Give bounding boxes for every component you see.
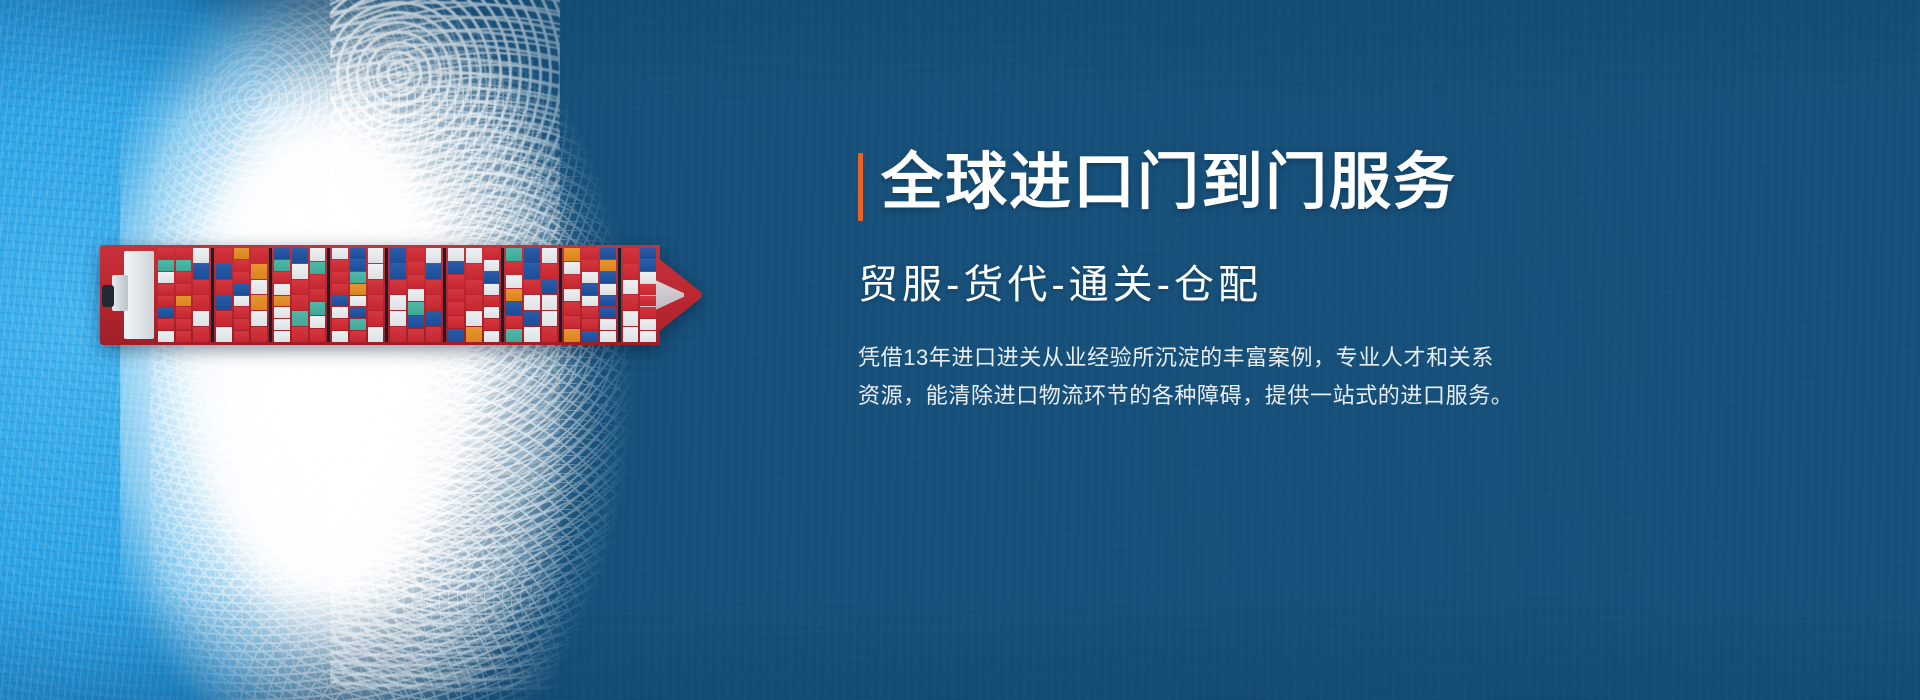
shipping-container (408, 275, 424, 288)
shipping-container (368, 264, 384, 279)
container-bay (466, 248, 482, 342)
shipping-container (292, 295, 308, 310)
shipping-container (506, 262, 522, 275)
container-bay (600, 248, 616, 342)
container-bay (542, 248, 558, 342)
shipping-container (623, 295, 639, 310)
shipping-container (176, 248, 192, 259)
shipping-container (216, 280, 232, 295)
shipping-container (310, 262, 326, 275)
shipping-container (368, 327, 384, 342)
shipping-container (466, 327, 482, 342)
banner-description: 凭借13年进口进关从业经验所沉淀的丰富案例，专业人才和关系 资源，能清除进口物流… (858, 339, 1738, 415)
shipping-container (274, 260, 290, 271)
container-bay (158, 248, 174, 342)
shipping-container (484, 272, 500, 283)
container-bay-divider (385, 248, 388, 342)
container-bay (506, 248, 522, 342)
shipping-container (350, 248, 366, 259)
shipping-container (466, 295, 482, 310)
container-bay (564, 248, 580, 342)
container-bay (426, 248, 442, 342)
shipping-container (274, 319, 290, 330)
shipping-container (408, 302, 424, 315)
shipping-container (623, 264, 639, 279)
shipping-container (623, 248, 639, 263)
container-bay (408, 248, 424, 342)
shipping-container (466, 311, 482, 326)
shipping-container (484, 248, 500, 259)
ship-wake-edge (330, 0, 560, 690)
container-bay (390, 248, 406, 342)
shipping-container (176, 260, 192, 271)
shipping-container (466, 264, 482, 279)
shipping-container (292, 280, 308, 295)
ship-stern-gear (102, 285, 114, 307)
shipping-container (600, 272, 616, 283)
shipping-container (251, 248, 267, 263)
shipping-container (542, 295, 558, 310)
shipping-container (448, 329, 464, 342)
shipping-container (582, 284, 598, 295)
shipping-container (564, 248, 580, 261)
shipping-container (368, 280, 384, 295)
container-bay (448, 248, 464, 342)
shipping-container (176, 272, 192, 283)
shipping-container (582, 248, 598, 259)
shipping-container (582, 319, 598, 330)
shipping-container (582, 272, 598, 283)
shipping-container (193, 280, 209, 295)
shipping-container (234, 260, 250, 271)
banner-text-block: 全球进口门到门服务 贸服-货代-通关-仓配 凭借13年进口进关从业经验所沉淀的丰… (858, 150, 1758, 415)
shipping-container (426, 280, 442, 295)
shipping-container (368, 311, 384, 326)
shipping-container (564, 329, 580, 342)
shipping-container (332, 260, 348, 271)
shipping-container (564, 316, 580, 329)
shipping-container (623, 327, 639, 342)
shipping-container (310, 316, 326, 329)
shipping-container (176, 296, 192, 307)
shipping-container (600, 284, 616, 295)
shipping-container (600, 307, 616, 318)
shipping-container (542, 327, 558, 342)
shipping-container (368, 295, 384, 310)
shipping-container (176, 307, 192, 318)
shipping-container (193, 264, 209, 279)
shipping-container (408, 329, 424, 342)
shipping-container (426, 327, 442, 342)
shipping-container (506, 248, 522, 261)
shipping-container (524, 264, 540, 279)
page-title: 全球进口门到门服务 (881, 150, 1457, 221)
shipping-container (216, 295, 232, 310)
shipping-container (640, 260, 656, 271)
shipping-container (466, 280, 482, 295)
container-bay-divider (443, 248, 446, 342)
shipping-container (251, 280, 267, 295)
shipping-container (448, 275, 464, 288)
container-bay (368, 248, 384, 342)
shipping-container (158, 260, 174, 271)
shipping-container (158, 307, 174, 318)
container-bay-divider (618, 248, 621, 342)
container-bay-divider (327, 248, 330, 342)
container-bay (234, 248, 250, 342)
shipping-container (600, 248, 616, 259)
container-bay (310, 248, 326, 342)
shipping-container (251, 327, 267, 342)
shipping-container (158, 284, 174, 295)
ship-bridge-tower (112, 275, 128, 311)
shipping-container (484, 331, 500, 342)
shipping-container (600, 296, 616, 307)
shipping-container (524, 295, 540, 310)
shipping-container (332, 284, 348, 295)
shipping-container (158, 296, 174, 307)
container-bay-divider (211, 248, 214, 342)
shipping-container (234, 307, 250, 318)
shipping-container (274, 284, 290, 295)
shipping-container (332, 248, 348, 259)
container-bay-divider (501, 248, 504, 342)
shipping-container (251, 311, 267, 326)
container-bay (274, 248, 290, 342)
shipping-container (564, 275, 580, 288)
shipping-container (350, 284, 366, 295)
shipping-container (524, 248, 540, 263)
container-bay (623, 248, 639, 342)
shipping-container (310, 329, 326, 342)
shipping-container (193, 311, 209, 326)
shipping-container (390, 311, 406, 326)
container-bay (176, 248, 192, 342)
shipping-container (426, 295, 442, 310)
shipping-container (564, 289, 580, 302)
container-bay (292, 248, 308, 342)
shipping-container (193, 248, 209, 263)
shipping-container (234, 331, 250, 342)
shipping-container (158, 331, 174, 342)
shipping-container (524, 311, 540, 326)
shipping-container (332, 307, 348, 318)
container-bay (193, 248, 209, 342)
shipping-container (350, 260, 366, 271)
container-bay (582, 248, 598, 342)
shipping-container (390, 264, 406, 279)
shipping-container (600, 260, 616, 271)
shipping-container (332, 319, 348, 330)
shipping-container (426, 248, 442, 263)
shipping-container (390, 295, 406, 310)
shipping-container (600, 319, 616, 330)
shipping-container (542, 311, 558, 326)
shipping-container (640, 319, 656, 330)
shipping-container (408, 316, 424, 329)
shipping-container (350, 319, 366, 330)
shipping-container (274, 248, 290, 259)
shipping-container (506, 275, 522, 288)
shipping-container (466, 248, 482, 263)
shipping-container (274, 296, 290, 307)
shipping-container (426, 264, 442, 279)
shipping-container (251, 295, 267, 310)
shipping-container (484, 319, 500, 330)
shipping-container (506, 302, 522, 315)
hero-banner: 全球进口门到门服务 贸服-货代-通关-仓配 凭借13年进口进关从业经验所沉淀的丰… (0, 0, 1920, 700)
shipping-container (193, 327, 209, 342)
shipping-container (350, 296, 366, 307)
shipping-container (310, 248, 326, 261)
shipping-container (640, 284, 656, 295)
shipping-container (390, 248, 406, 263)
shipping-container (158, 272, 174, 283)
container-ship-image (100, 245, 660, 345)
shipping-container (524, 327, 540, 342)
shipping-container (484, 307, 500, 318)
container-bay (524, 248, 540, 342)
shipping-container (640, 296, 656, 307)
shipping-container (216, 248, 232, 263)
shipping-container (368, 248, 384, 263)
shipping-container (448, 289, 464, 302)
shipping-container (390, 280, 406, 295)
shipping-container (448, 248, 464, 261)
shipping-container (350, 272, 366, 283)
shipping-container (292, 248, 308, 263)
shipping-container (506, 329, 522, 342)
shipping-container (158, 319, 174, 330)
container-bay (484, 248, 500, 342)
shipping-container (542, 280, 558, 295)
shipping-container (640, 248, 656, 259)
shipping-container (564, 302, 580, 315)
shipping-container (350, 307, 366, 318)
shipping-container (564, 262, 580, 275)
shipping-container (310, 302, 326, 315)
container-bay (332, 248, 348, 342)
shipping-container (234, 284, 250, 295)
shipping-container (176, 331, 192, 342)
orange-accent-bar (858, 153, 863, 221)
shipping-container (524, 280, 540, 295)
container-bay (216, 248, 232, 342)
shipping-container (193, 295, 209, 310)
shipping-container (350, 331, 366, 342)
shipping-container (332, 272, 348, 283)
shipping-container (274, 272, 290, 283)
shipping-container (600, 331, 616, 342)
ship-container-deck (158, 248, 656, 342)
shipping-container (484, 284, 500, 295)
shipping-container (506, 289, 522, 302)
shipping-container (426, 311, 442, 326)
shipping-container (640, 272, 656, 283)
shipping-container (390, 327, 406, 342)
shipping-container (274, 307, 290, 318)
shipping-container (506, 316, 522, 329)
shipping-container (448, 316, 464, 329)
shipping-container (408, 248, 424, 261)
container-bay-divider (559, 248, 562, 342)
shipping-container (332, 296, 348, 307)
shipping-container (216, 264, 232, 279)
shipping-container (158, 248, 174, 259)
shipping-container (408, 289, 424, 302)
shipping-container (542, 264, 558, 279)
shipping-container (582, 296, 598, 307)
ship-bridge (124, 251, 154, 339)
shipping-container (582, 331, 598, 342)
shipping-container (332, 331, 348, 342)
container-bay-divider (269, 248, 272, 342)
shipping-container (310, 289, 326, 302)
shipping-container (274, 331, 290, 342)
shipping-container (292, 327, 308, 342)
shipping-container (640, 331, 656, 342)
shipping-container (292, 264, 308, 279)
container-bay (640, 248, 656, 342)
shipping-container (448, 262, 464, 275)
shipping-container (234, 248, 250, 259)
shipping-container (234, 296, 250, 307)
shipping-container (251, 264, 267, 279)
shipping-container (542, 248, 558, 263)
container-bay (251, 248, 267, 342)
shipping-container (292, 311, 308, 326)
shipping-container (484, 260, 500, 271)
shipping-container (582, 260, 598, 271)
shipping-container (448, 302, 464, 315)
shipping-container (408, 262, 424, 275)
shipping-container (310, 275, 326, 288)
description-line-1: 凭借13年进口进关从业经验所沉淀的丰富案例，专业人才和关系 (858, 339, 1738, 377)
banner-subtitle: 贸服-货代-通关-仓配 (858, 261, 1758, 309)
shipping-container (216, 311, 232, 326)
shipping-container (176, 319, 192, 330)
container-bay (350, 248, 366, 342)
shipping-container (216, 327, 232, 342)
shipping-container (640, 307, 656, 318)
shipping-container (234, 272, 250, 283)
description-line-2: 资源，能清除进口物流环节的各种障碍，提供一站式的进口服务。 (858, 377, 1738, 415)
shipping-container (176, 284, 192, 295)
shipping-container (623, 280, 639, 295)
shipping-container (582, 307, 598, 318)
shipping-container (234, 319, 250, 330)
shipping-container (623, 311, 639, 326)
headline-row: 全球进口门到门服务 (858, 150, 1758, 221)
shipping-container (484, 296, 500, 307)
